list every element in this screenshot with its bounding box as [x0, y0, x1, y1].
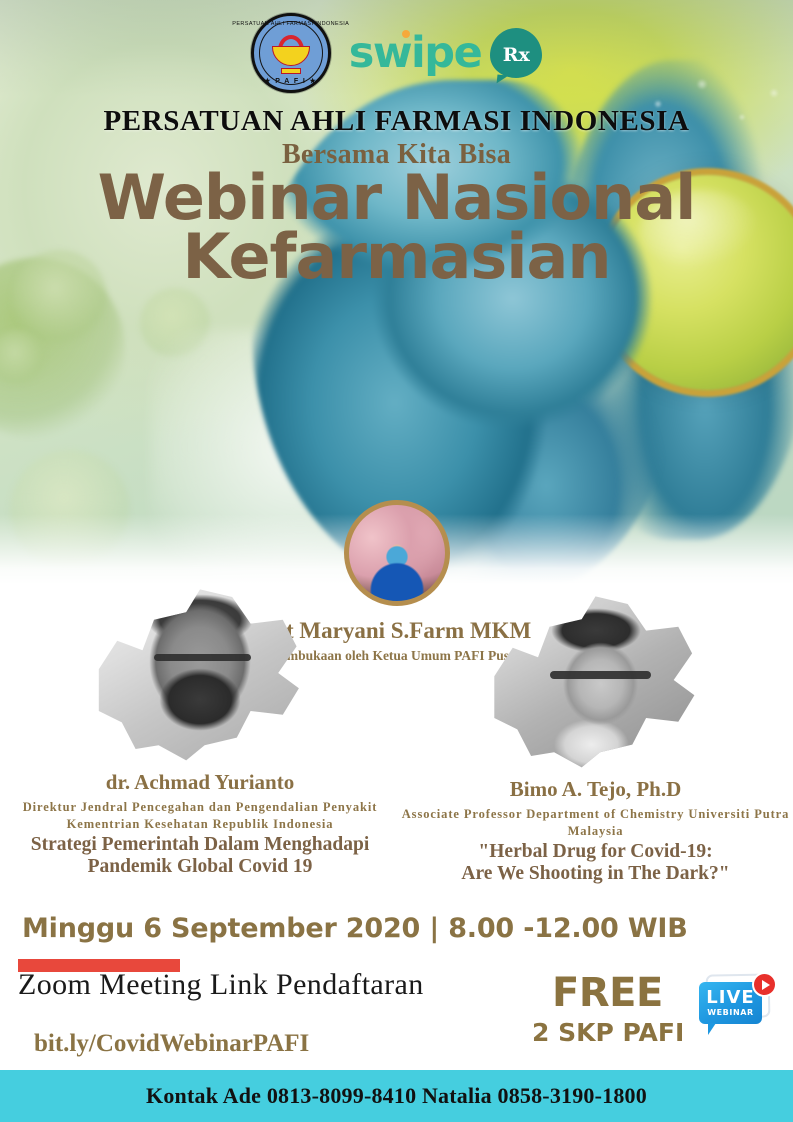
live-webinar-badge: LIVE WEBINAR — [697, 972, 779, 1040]
swipe-wordmark-text: swipe — [349, 28, 482, 78]
swipe-dot-icon — [402, 30, 410, 38]
speaker-left-name: dr. Achmad Yurianto — [0, 770, 400, 795]
rx-letter-x: x — [518, 44, 529, 66]
credits-label: 2 SKP PAFI — [532, 1018, 684, 1047]
pafi-logo-text: PERSATUAN AHLI FARMASI INDONESIA ★ P A F… — [254, 16, 328, 90]
webinar-poster: PERSATUAN AHLI FARMASI INDONESIA ★ P A F… — [0, 0, 793, 1122]
badge-live-text: LIVE — [706, 989, 754, 1007]
rx-letter-r: R — [503, 44, 519, 66]
rx-mark: Rx — [503, 40, 530, 66]
registration-link[interactable]: bit.ly/CovidWebinarPAFI — [34, 1030, 309, 1058]
badge-webinar-text: WEBINAR — [707, 1009, 754, 1017]
page-title: Webinar Nasional Kefarmasian — [0, 166, 793, 288]
brush-stroke-mask — [85, 578, 315, 768]
speaker-right: Bimo A. Tejo, Ph.D Associate Professor D… — [398, 585, 793, 885]
play-icon — [752, 972, 777, 997]
title-line-2: Kefarmasian — [0, 225, 793, 288]
speaker-right-topic-line-1: "Herbal Drug for Covid-19: — [478, 841, 712, 862]
pafi-logo: PERSATUAN AHLI FARMASI INDONESIA ★ P A F… — [251, 13, 331, 93]
rx-bubble-icon: Rx — [490, 28, 542, 78]
logo-row: PERSATUAN AHLI FARMASI INDONESIA ★ P A F… — [0, 12, 793, 94]
speaker-left-topic-line-2: Pandemik Global Covid 19 — [88, 856, 313, 877]
speaker-left-topic: Strategi Pemerintah Dalam Menghadapi Pan… — [0, 834, 400, 878]
price-label: FREE — [552, 970, 663, 1016]
speaker-left-topic-line-1: Strategi Pemerintah Dalam Menghadapi — [31, 834, 370, 855]
speaker-right-photo — [481, 585, 711, 775]
speaker-right-portrait — [481, 585, 711, 775]
brush-stroke-mask — [481, 585, 711, 775]
swipe-wordmark: swipe — [349, 32, 482, 75]
swiperx-logo: swipe Rx — [349, 28, 543, 78]
organization-name: PERSATUAN AHLI FARMASI INDONESIA — [0, 105, 793, 138]
pafi-logo-bottom-text: ★ P A F I ★ — [264, 77, 317, 85]
speaker-right-topic: "Herbal Drug for Covid-19: Are We Shooti… — [398, 841, 793, 885]
speaker-left-portrait — [85, 578, 315, 768]
speaker-left-affiliation: Direktur Jendral Pencegahan dan Pengenda… — [0, 799, 400, 832]
contact-footer: Kontak Ade 0813-8099-8410 Natalia 0858-3… — [0, 1070, 793, 1122]
speaker-left: dr. Achmad Yurianto Direktur Jendral Pen… — [0, 578, 400, 878]
speaker-right-topic-line-2: Are We Shooting in The Dark?" — [461, 863, 729, 884]
speaker-left-photo — [85, 578, 315, 768]
platform-label: Zoom Meeting Link Pendaftaran — [18, 968, 424, 1002]
speaker-right-affiliation: Associate Professor Department of Chemis… — [398, 806, 793, 839]
speaker-right-name: Bimo A. Tejo, Ph.D — [398, 777, 793, 802]
pafi-logo-top-text: PERSATUAN AHLI FARMASI INDONESIA — [232, 21, 349, 27]
contact-text: Kontak Ade 0813-8099-8410 Natalia 0858-3… — [146, 1083, 647, 1109]
event-datetime: Minggu 6 September 2020 | 8.00 -12.00 WI… — [22, 913, 688, 944]
play-triangle-icon — [762, 980, 770, 990]
